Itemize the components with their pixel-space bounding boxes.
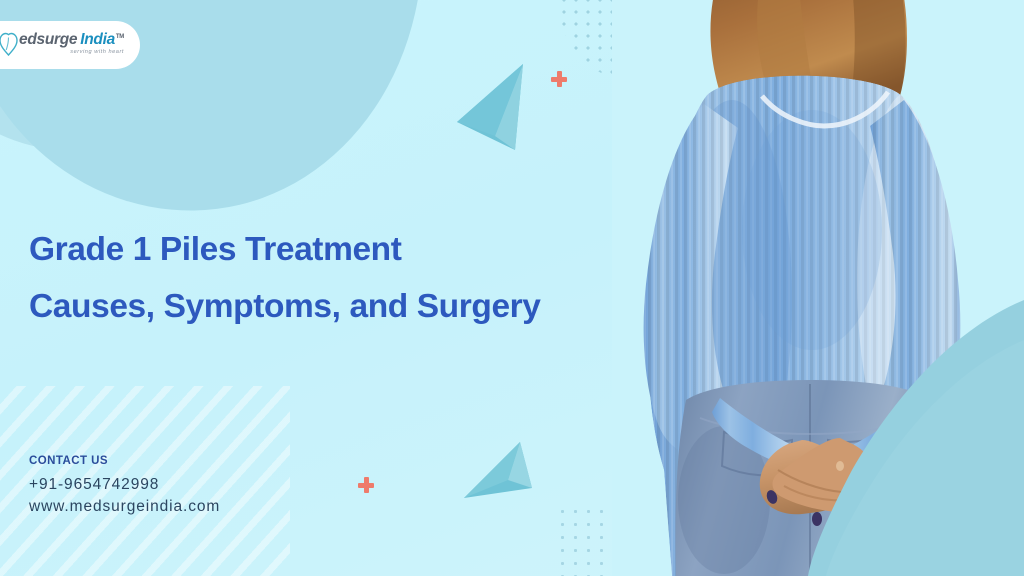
contact-website[interactable]: www.medsurgeindia.com bbox=[29, 496, 220, 518]
logo-trademark: TM bbox=[116, 34, 124, 40]
contact-phone[interactable]: +91-9654742998 bbox=[29, 474, 220, 496]
headline-line-2: Causes, Symptoms, and Surgery bbox=[29, 290, 649, 324]
logo[interactable]: edsurge India TM serving with heart bbox=[0, 21, 140, 69]
logo-name-part-1: edsurge bbox=[19, 32, 77, 48]
contact-block: CONTACT US +91-9654742998 www.medsurgein… bbox=[29, 455, 220, 519]
medical-cross-icon bbox=[358, 477, 374, 493]
logo-name-part-2: India bbox=[80, 32, 115, 48]
contact-label: CONTACT US bbox=[29, 455, 220, 467]
headline-line-1: Grade 1 Piles Treatment bbox=[29, 233, 649, 267]
hero-photo bbox=[612, 0, 1024, 576]
page-title: Grade 1 Piles Treatment Causes, Symptoms… bbox=[29, 233, 649, 323]
banner: edsurge India TM serving with heart Grad… bbox=[0, 0, 1024, 576]
logo-tagline: serving with heart bbox=[19, 50, 124, 56]
medical-cross-icon bbox=[551, 71, 567, 87]
heart-tooth-mark-icon bbox=[0, 32, 18, 56]
